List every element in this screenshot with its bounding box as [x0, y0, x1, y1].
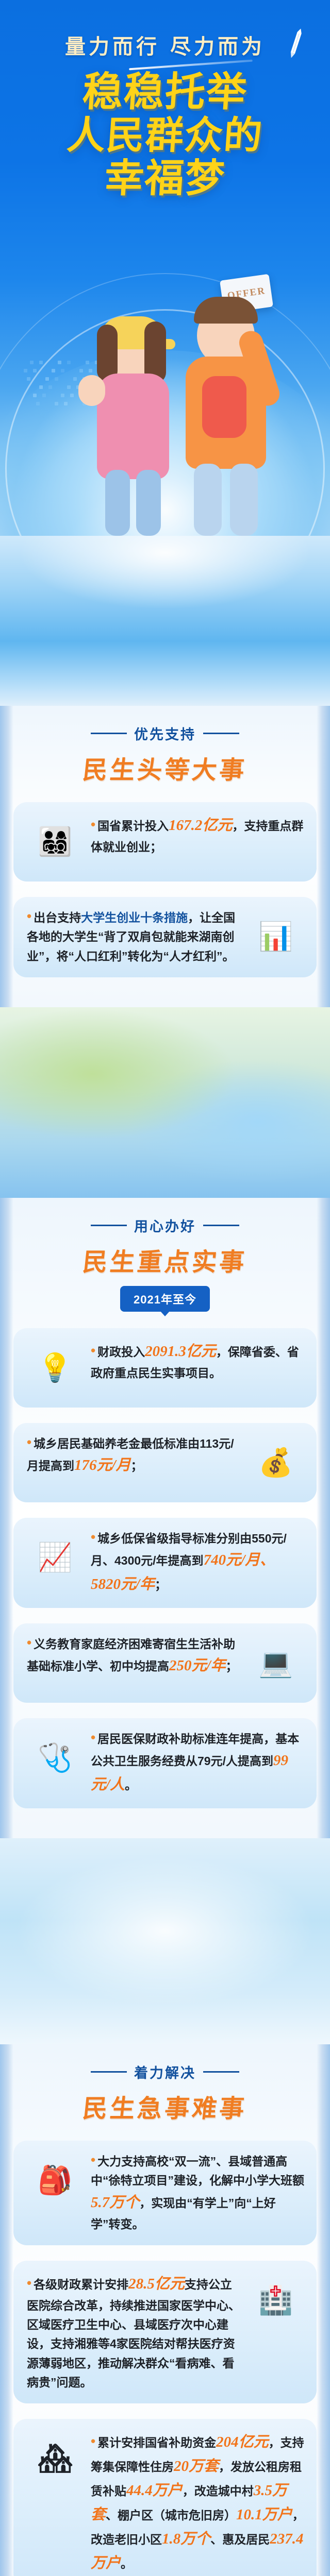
bullet-dot-icon: •	[27, 908, 31, 924]
hero-kicker-rule	[129, 60, 253, 71]
bullet-text: •大力支持高校“双一流”、县域普通高中“徐特立项目”建设，化解中小学大班额5.7…	[91, 2152, 304, 2234]
bullet-item: 💰•城乡居民基础养老金最低标准由113元/月提高到176元/月；	[13, 1423, 317, 1502]
bullet-highlight-value: 167.2亿元	[169, 817, 232, 834]
bullet-text: •城乡低保省级指导标准分别由550元/月、4300元/年提高到740元/月、58…	[91, 1529, 304, 1597]
bullet-text-run: ；	[226, 1659, 238, 1673]
bullet-dot-icon: •	[91, 1343, 95, 1358]
bullet-dot-icon: •	[91, 1730, 95, 1745]
startup-presentation-icon: 📊	[247, 908, 304, 965]
bar-chart-rising-icon: 📈	[27, 1529, 84, 1586]
family-group-icon: 👨‍👩‍👧‍👦	[27, 814, 84, 870]
bullet-item: 📊•出台支持大学生创业十条措施，让全国各地的大学生“背了双肩包就能来湖南创业”，…	[13, 897, 317, 977]
kicker-dash-right	[203, 1225, 239, 1226]
bullet-dot-icon: •	[27, 1635, 31, 1650]
photo-band-doctors-bg	[0, 1838, 330, 2044]
section-2-title: 民生重点实事	[0, 1242, 330, 1278]
bullet-highlight-value: 10.1万户	[236, 2506, 292, 2523]
headline-line-1: 稳稳托举	[0, 72, 330, 113]
bullet-text: •国省累计投入167.2亿元，支持重点群体就业创业；	[91, 814, 304, 857]
section-1-title: 民生头等大事	[0, 750, 330, 786]
bullet-text-run: 各级财政累计安排	[34, 2278, 128, 2291]
kicker-dash-left	[91, 2071, 127, 2073]
bullet-text: •义务教育家庭经济困难寄宿生生活补助基础标准小学、初中均提高250元/年；	[27, 1635, 240, 1678]
section-2-period-badge: 2021年至今	[120, 1286, 210, 1312]
section-1-heading: 优先支持 民生头等大事	[0, 706, 330, 789]
section-3-kicker: 着力解决	[134, 2062, 196, 2082]
hero-banner: 量力而行 尽力而为 稳稳托举 人民群众的 幸福梦	[0, 0, 330, 536]
hero-kicker: 量力而行 尽力而为	[0, 30, 330, 60]
bullet-text: •城乡居民基础养老金最低标准由113元/月提高到176元/月；	[27, 1434, 240, 1478]
bullet-dot-icon: •	[27, 1434, 31, 1450]
bullet-dot-icon: •	[91, 817, 95, 832]
bullet-item: 🏥•各级财政累计安排28.5亿元支持公立医院综合改革，持续推进国家医学中心、区域…	[13, 2261, 317, 2403]
bullet-highlight-value: 20万套	[174, 2458, 219, 2475]
bullet-text: •累计安排国省补助资金204亿元，支持筹集保障性住房20万套，发放公租房租赁补贴…	[91, 2430, 304, 2575]
section-3: 着力解决 民生急事难事 🎒•大力支持高校“双一流”、县域普通高中“徐特立项目”建…	[0, 2044, 330, 2576]
bullet-highlight-value: 2091.3亿元	[145, 1343, 216, 1360]
infographic-poster: 量力而行 尽力而为 稳稳托举 人民群众的 幸福梦	[0, 0, 330, 2576]
bullet-item: 🩺•居民医保财政补助标准连年提高，基本公共卫生服务经费从79元/人提高到99元/…	[13, 1718, 317, 1808]
bullet-text-run: ；	[131, 1459, 143, 1472]
section-3-heading: 着力解决 民生急事难事	[0, 2044, 330, 2127]
photo-band-doctors	[0, 1838, 330, 2044]
bullet-dot-icon: •	[91, 2152, 95, 2167]
section-3-title: 民生急事难事	[0, 2088, 330, 2124]
bullet-item: 💻•义务教育家庭经济困难寄宿生生活补助基础标准小学、初中均提高250元/年；	[13, 1623, 317, 1703]
photo-band-elderly-couple	[0, 1007, 330, 1198]
photo-band-elderly-bg	[0, 1007, 330, 1198]
kicker-dash-right	[203, 2071, 239, 2073]
hospital-building-icon: 🏥	[247, 2272, 304, 2329]
bullet-text: •各级财政累计安排28.5亿元支持公立医院综合改革，持续推进国家医学中心、区域医…	[27, 2272, 240, 2392]
bullet-dot-icon: •	[91, 2433, 95, 2449]
bullet-highlight-value: 176元/月	[74, 1457, 131, 1473]
headline-line-2: 人民群众的	[0, 116, 330, 155]
bullet-highlight-value: 44.4万户	[126, 2482, 183, 2499]
photo-band-walking-bg	[0, 536, 330, 706]
bullet-text-run: 国省累计投入	[97, 819, 169, 833]
bullet-text-run: 居民医保财政补助标准连年提高，基本公共卫生服务经费从79元/人提高到	[91, 1732, 299, 1768]
photo-band-walking	[0, 536, 330, 706]
bullet-highlight-value: 大学生创业十条措施	[81, 911, 188, 924]
bullet-item: 📈•城乡低保省级指导标准分别由550元/月、4300元/年提高到740元/月、5…	[13, 1518, 317, 1608]
bullet-highlight-value: 204亿元	[216, 2434, 269, 2450]
money-growth-icon: 💰	[247, 1434, 304, 1491]
bullet-text-run: 财政投入	[97, 1345, 145, 1359]
bullet-highlight-value: 5.7万个	[91, 2194, 139, 2211]
section-2-bullets: 💡•财政投入2091.3亿元，保障省委、省政府重点民生实事项目。💰•城乡居民基础…	[0, 1315, 330, 1833]
section-2-kicker: 用心办好	[134, 1215, 196, 1235]
section-1-bullets: 👨‍👩‍👧‍👦•国省累计投入167.2亿元，支持重点群体就业创业；📊•出台支持大…	[0, 789, 330, 1002]
school-children-icon: 🎒	[27, 2152, 84, 2209]
bullet-text-run: 累计安排国省补助资金	[97, 2436, 216, 2449]
bullet-dot-icon: •	[27, 2275, 31, 2291]
bullet-text: •财政投入2091.3亿元，保障省委、省政府重点民生实事项目。	[91, 1340, 304, 1383]
bullet-text-run: 、惠及居民	[210, 2533, 270, 2546]
bullet-text-run: 、棚户区（城市危旧房）	[106, 2509, 236, 2522]
bullet-item: 🎒•大力支持高校“双一流”、县域普通高中“徐特立项目”建设，化解中小学大班额5.…	[13, 2141, 317, 2245]
lightbulb-book-icon: 💡	[27, 1340, 84, 1396]
kicker-dash-left	[91, 733, 127, 734]
headline-line-3: 幸福梦	[0, 158, 330, 198]
bullet-text-run: 大力支持高校“双一流”、县域普通高中“徐特立项目”建设，化解中小学大班额	[91, 2155, 304, 2187]
city-housing-icon: 🏘	[27, 2430, 84, 2487]
bullet-highlight-value: 250元/年	[169, 1657, 226, 1674]
hero-figure-boy: OFFER	[170, 268, 284, 536]
bullet-text-run: 出台支持	[34, 911, 81, 924]
bullet-text: •居民医保财政补助标准连年提高，基本公共卫生服务经费从79元/人提高到99元/人…	[91, 1730, 304, 1797]
section-2-kicker-wrap: 用心办好	[91, 1215, 239, 1235]
hero-illustration-people: OFFER	[0, 247, 330, 536]
bullet-highlight-value: 1.8万个	[162, 2531, 210, 2547]
bullet-dot-icon: •	[91, 1529, 95, 1545]
section-2: 用心办好 民生重点实事 2021年至今 💡•财政投入2091.3亿元，保障省委、…	[0, 1198, 330, 1838]
section-3-bullets: 🎒•大力支持高校“双一流”、县域普通高中“徐特立项目”建设，化解中小学大班额5.…	[0, 2127, 330, 2576]
section-2-heading: 用心办好 民生重点实事 2021年至今	[0, 1198, 330, 1315]
bullet-item: 💡•财政投入2091.3亿元，保障省委、省政府重点民生实事项目。	[13, 1328, 317, 1408]
section-3-kicker-wrap: 着力解决	[91, 2062, 239, 2082]
bullet-highlight-value: 28.5亿元	[128, 2276, 185, 2292]
kicker-dash-left	[91, 1225, 127, 1226]
bullet-text-run: ，改造城中村	[183, 2484, 254, 2498]
bullet-item: 👨‍👩‍👧‍👦•国省累计投入167.2亿元，支持重点群体就业创业；	[13, 802, 317, 882]
section-1: 优先支持 民生头等大事 👨‍👩‍👧‍👦•国省累计投入167.2亿元，支持重点群体…	[0, 706, 330, 1007]
bullet-text-run: ；	[155, 1578, 167, 1591]
doctor-telehealth-icon: 🩺	[27, 1730, 84, 1786]
section-1-kicker-wrap: 优先支持	[91, 723, 239, 743]
bullet-item: 🏘•累计安排国省补助资金204亿元，支持筹集保障性住房20万套，发放公租房租赁补…	[13, 2419, 317, 2576]
online-learning-icon: 💻	[247, 1635, 304, 1691]
kicker-dash-right	[203, 733, 239, 734]
bullet-text-run: 。	[121, 2557, 133, 2570]
hero-headline: 稳稳托举 人民群众的 幸福梦	[0, 72, 330, 198]
bullet-text: •出台支持大学生创业十条措施，让全国各地的大学生“背了双肩包就能来湖南创业”，将…	[27, 908, 240, 966]
bullet-text-run: 支持公立医院综合改革，持续推进国家医学中心、区域医疗卫生中心、县域医疗次中心建设…	[27, 2278, 240, 2389]
section-1-kicker: 优先支持	[134, 723, 196, 743]
bullet-text-run: 。	[125, 1778, 137, 1792]
